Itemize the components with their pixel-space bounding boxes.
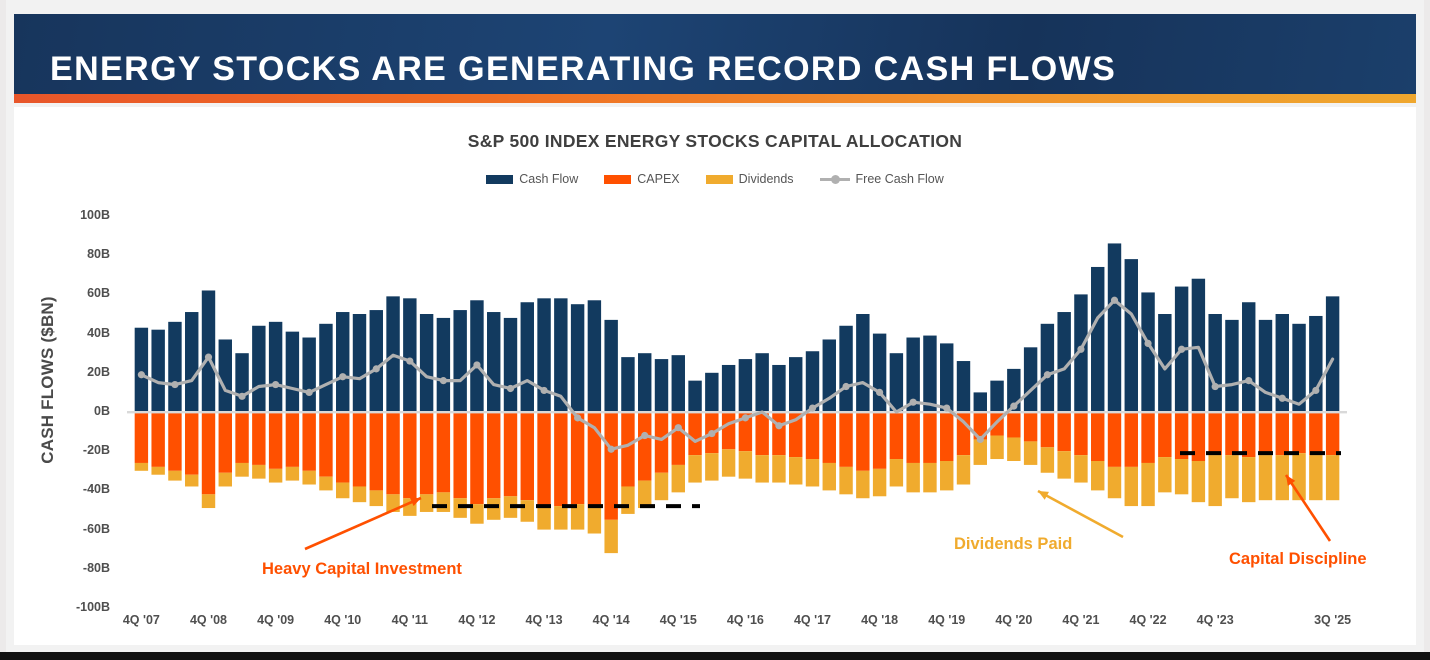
legend-label: Cash Flow bbox=[519, 172, 578, 186]
y-axis-tick-label: 80B bbox=[44, 247, 110, 261]
y-axis-tick-label: 40B bbox=[44, 326, 110, 340]
page-title: ENERGY STOCKS ARE GENERATING RECORD CASH… bbox=[50, 50, 1116, 89]
chart-card bbox=[14, 107, 1416, 645]
y-axis-tick-label: 60B bbox=[44, 286, 110, 300]
x-axis-tick-label: 4Q '23 bbox=[1175, 613, 1255, 627]
legend-item-dividends[interactable]: Dividends bbox=[706, 172, 794, 186]
legend-swatch-icon bbox=[706, 175, 733, 184]
y-axis-tick-label: -100B bbox=[44, 600, 110, 614]
legend-swatch-icon bbox=[486, 175, 513, 184]
slide-root: ENERGY STOCKS ARE GENERATING RECORD CASH… bbox=[0, 0, 1430, 660]
annotation-label-heavy-capital-investment: Heavy Capital Investment bbox=[262, 560, 462, 579]
free-cash-flow-line-icon bbox=[820, 175, 850, 184]
y-axis-tick-label: -80B bbox=[44, 561, 110, 575]
bottom-rule bbox=[0, 652, 1430, 660]
y-axis-tick-label: -20B bbox=[44, 443, 110, 457]
legend-label: Dividends bbox=[739, 172, 794, 186]
y-axis-tick-label: 100B bbox=[44, 208, 110, 222]
slide-header: ENERGY STOCKS ARE GENERATING RECORD CASH… bbox=[0, 0, 1430, 108]
y-axis-tick-label: -60B bbox=[44, 522, 110, 536]
annotation-label-dividends-paid: Dividends Paid bbox=[954, 535, 1072, 554]
chart-legend: Cash FlowCAPEXDividendsFree Cash Flow bbox=[0, 172, 1430, 186]
header-accent-bar bbox=[14, 94, 1416, 103]
legend-item-free-cash-flow[interactable]: Free Cash Flow bbox=[820, 172, 944, 186]
legend-item-cash-flow[interactable]: Cash Flow bbox=[486, 172, 578, 186]
y-axis-tick-label: -40B bbox=[44, 482, 110, 496]
annotation-label-capital-discipline: Capital Discipline bbox=[1229, 550, 1367, 569]
x-axis-tick-label: 3Q '25 bbox=[1293, 613, 1373, 627]
legend-label: Free Cash Flow bbox=[856, 172, 944, 186]
y-axis-tick-label: 20B bbox=[44, 365, 110, 379]
legend-swatch-icon bbox=[604, 175, 631, 184]
legend-label: CAPEX bbox=[637, 172, 679, 186]
legend-item-capex[interactable]: CAPEX bbox=[604, 172, 679, 186]
y-axis-tick-label: 0B bbox=[44, 404, 110, 418]
header-band: ENERGY STOCKS ARE GENERATING RECORD CASH… bbox=[14, 14, 1416, 94]
chart-title: S&P 500 INDEX ENERGY STOCKS CAPITAL ALLO… bbox=[0, 131, 1430, 152]
